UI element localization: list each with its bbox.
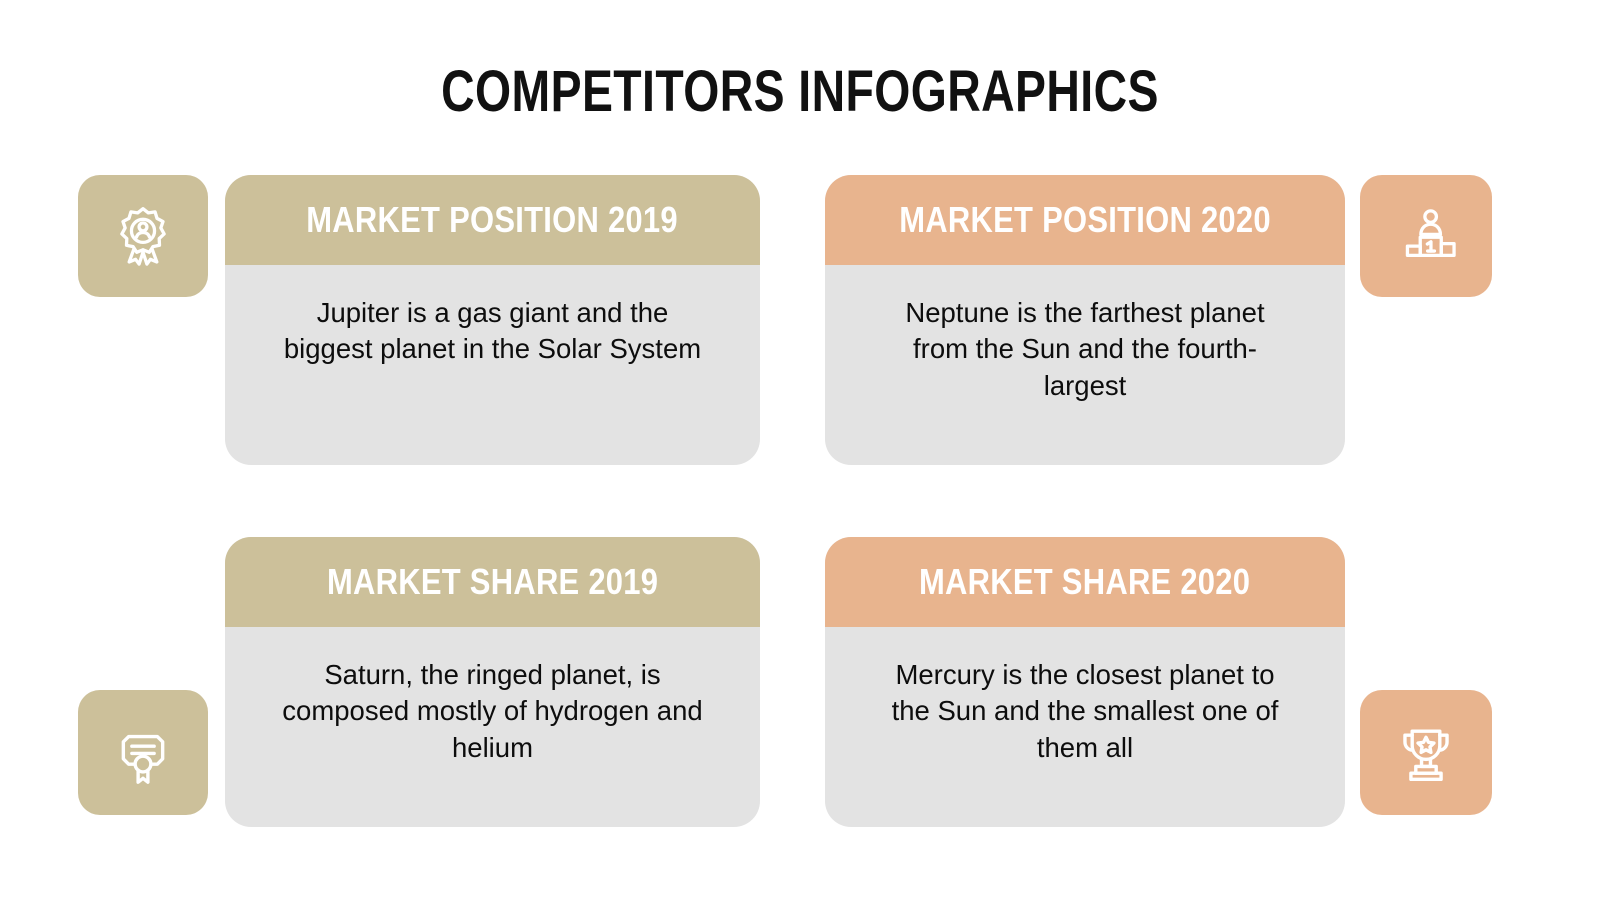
card-header-market-position-2019: MARKET POSITION 2019 bbox=[225, 175, 760, 265]
icon-tile-market-share-2019 bbox=[78, 690, 208, 815]
card-market-share-2019[interactable]: MARKET SHARE 2019 Saturn, the ringed pla… bbox=[225, 537, 760, 827]
card-market-position-2019[interactable]: MARKET POSITION 2019 Jupiter is a gas gi… bbox=[225, 175, 760, 465]
card-body-market-share-2020: Mercury is the closest planet to the Sun… bbox=[825, 627, 1345, 827]
card-heading: MARKET SHARE 2020 bbox=[919, 561, 1250, 603]
card-heading: MARKET POSITION 2020 bbox=[899, 199, 1271, 241]
card-heading: MARKET POSITION 2019 bbox=[307, 199, 679, 241]
card-description: Saturn, the ringed planet, is composed m… bbox=[277, 657, 708, 766]
card-market-position-2020[interactable]: MARKET POSITION 2020 Neptune is the fart… bbox=[825, 175, 1345, 465]
trophy-star-icon bbox=[1392, 719, 1460, 787]
card-description: Mercury is the closest planet to the Sun… bbox=[877, 657, 1293, 766]
card-header-market-share-2020: MARKET SHARE 2020 bbox=[825, 537, 1345, 627]
winner-podium-icon bbox=[1393, 203, 1459, 269]
card-header-market-position-2020: MARKET POSITION 2020 bbox=[825, 175, 1345, 265]
icon-tile-market-share-2020 bbox=[1360, 690, 1492, 815]
icon-tile-market-position-2019 bbox=[78, 175, 208, 297]
card-description: Jupiter is a gas giant and the biggest p… bbox=[277, 295, 708, 368]
card-header-market-share-2019: MARKET SHARE 2019 bbox=[225, 537, 760, 627]
page-title: COMPETITORS INFOGRAPHICS bbox=[160, 62, 1440, 123]
certificate-seal-icon bbox=[109, 719, 177, 787]
card-body-market-position-2019: Jupiter is a gas giant and the biggest p… bbox=[225, 265, 760, 465]
award-badge-person-icon bbox=[110, 203, 176, 269]
card-heading: MARKET SHARE 2019 bbox=[327, 561, 658, 603]
icon-tile-market-position-2020 bbox=[1360, 175, 1492, 297]
card-market-share-2020[interactable]: MARKET SHARE 2020 Mercury is the closest… bbox=[825, 537, 1345, 827]
card-body-market-position-2020: Neptune is the farthest planet from the … bbox=[825, 265, 1345, 465]
card-description: Neptune is the farthest planet from the … bbox=[877, 295, 1293, 404]
card-body-market-share-2019: Saturn, the ringed planet, is composed m… bbox=[225, 627, 760, 827]
